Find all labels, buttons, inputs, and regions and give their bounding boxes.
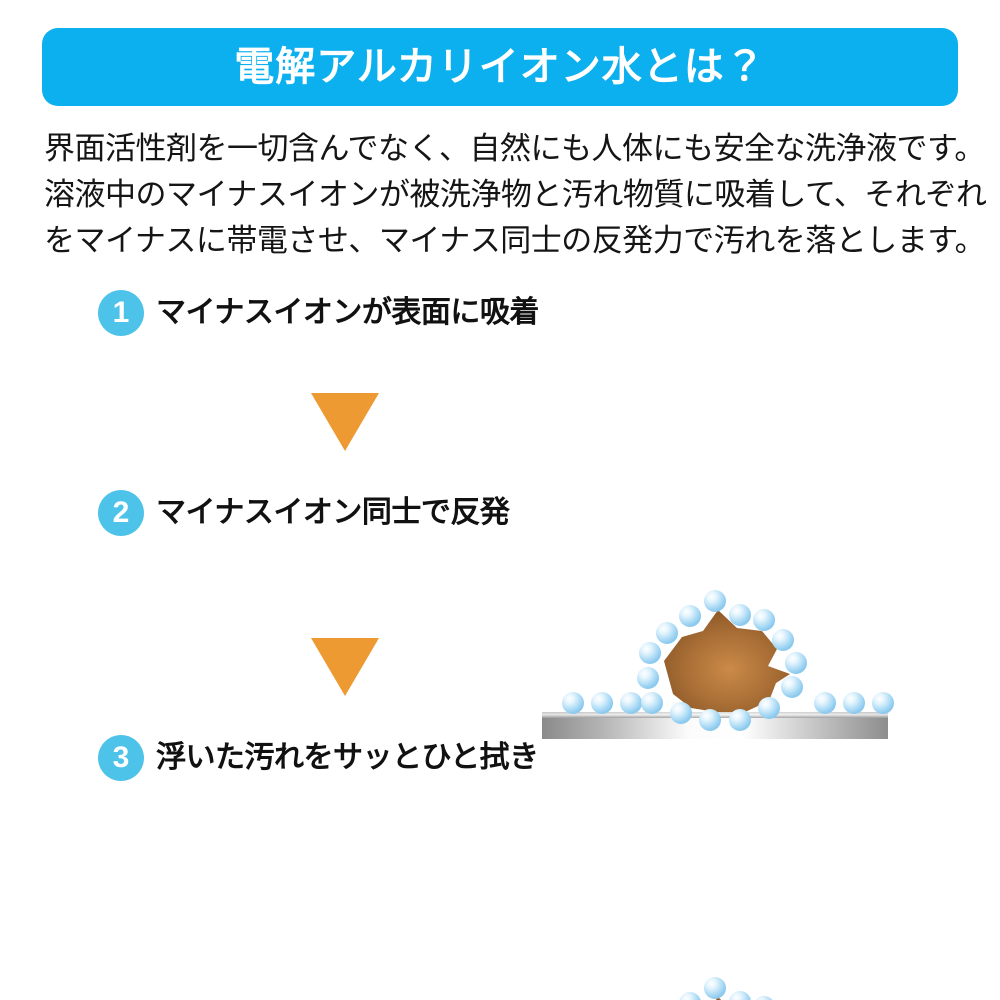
- step-1: 1 マイナスイオンが表面に吸着: [0, 290, 1000, 465]
- page-title: 電解アルカリイオン水とは？: [234, 47, 765, 87]
- connector-triangle-1: [311, 393, 379, 451]
- header-banner: 電解アルカリイオン水とは？: [42, 28, 958, 106]
- step-2-heading: 2 マイナスイオン同士で反発: [98, 490, 509, 536]
- infographic-page: 電解アルカリイオン水とは？ 界面活性剤を一切含んでなく、自然にも人体にも安全な洗…: [0, 0, 1000, 1000]
- step-1-label: マイナスイオンが表面に吸着: [156, 298, 539, 328]
- step-3: 3 浮いた汚れをサッとひと拭き: [0, 735, 1000, 990]
- step-1-number-badge: 1: [98, 290, 144, 336]
- step-2-label: マイナスイオン同士で反発: [156, 498, 509, 528]
- step-3-heading: 3 浮いた汚れをサッとひと拭き: [98, 735, 539, 781]
- intro-line-3: をマイナスに帯電させ、マイナス同士の反発力で汚れを落とします。: [44, 218, 964, 264]
- step-2: 2 マイナスイオン同士で反発: [0, 490, 1000, 715]
- step-3-number-badge: 3: [98, 735, 144, 781]
- step-2-number-badge: 2: [98, 490, 144, 536]
- intro-paragraph: 界面活性剤を一切含んでなく、自然にも人体にも安全な洗浄液です。 溶液中のマイナス…: [44, 126, 964, 264]
- connector-triangle-2: [311, 638, 379, 696]
- intro-line-2: 溶液中のマイナスイオンが被洗浄物と汚れ物質に吸着して、それぞれ: [44, 172, 964, 218]
- step-1-heading: 1 マイナスイオンが表面に吸着: [98, 290, 539, 336]
- intro-line-1: 界面活性剤を一切含んでなく、自然にも人体にも安全な洗浄液です。: [44, 126, 964, 172]
- step-3-label: 浮いた汚れをサッとひと拭き: [156, 743, 539, 773]
